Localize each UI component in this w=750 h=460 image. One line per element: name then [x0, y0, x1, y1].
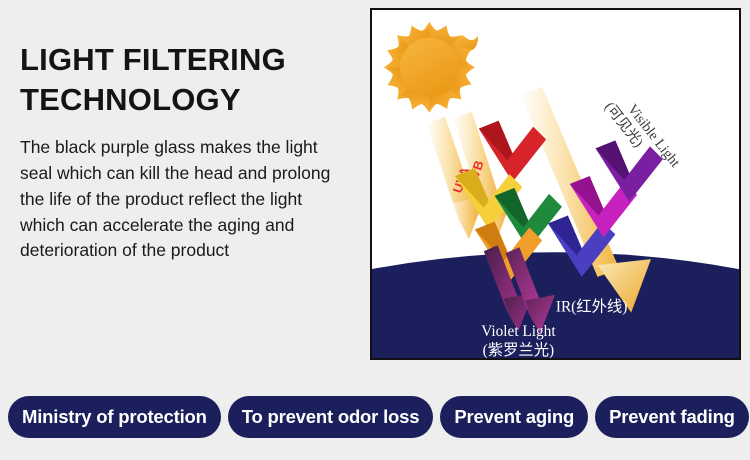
ir-label: IR(红外线): [556, 299, 627, 316]
violet-light-label-en: Violet Light: [481, 323, 556, 340]
feature-badge-row: Ministry of protection To prevent odor l…: [8, 396, 742, 438]
text-column: LIGHT FILTERING TECHNOLOGY The black pur…: [20, 40, 360, 264]
badge-prevent-aging[interactable]: Prevent aging: [440, 396, 588, 438]
light-filtering-diagram: UVB UVA: [372, 10, 739, 358]
badge-to-prevent-odor-loss[interactable]: To prevent odor loss: [228, 396, 434, 438]
headline-line-2: TECHNOLOGY: [20, 80, 360, 120]
light-filtering-diagram-panel: UVB UVA: [370, 8, 741, 360]
badge-prevent-fading[interactable]: Prevent fading: [595, 396, 749, 438]
body-paragraph: The black purple glass makes the light s…: [20, 135, 350, 264]
badge-ministry-of-protection[interactable]: Ministry of protection: [8, 396, 221, 438]
headline-line-1: LIGHT FILTERING: [20, 40, 360, 80]
page-title: LIGHT FILTERING TECHNOLOGY: [20, 40, 360, 119]
violet-light-label-cn: (紫罗兰光): [483, 342, 554, 358]
sun-disc: [400, 38, 459, 97]
